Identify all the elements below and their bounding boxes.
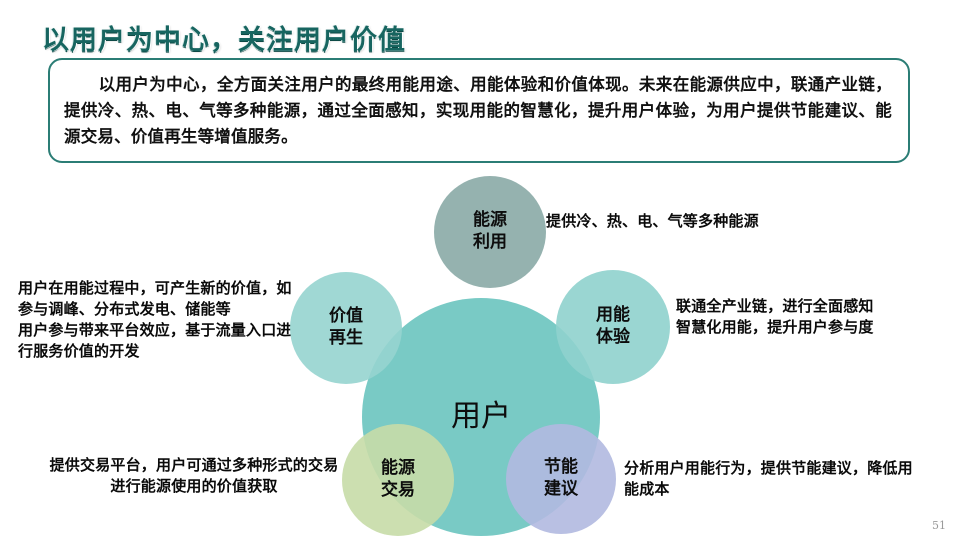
bubble-energy-experience-line2: 体验 (596, 327, 630, 349)
annotation-energy-use: 提供冷、热、电、气等多种能源 (546, 211, 846, 232)
bubble-energy-use-line1: 能源 (473, 210, 507, 232)
bubble-saving-advice-line1: 节能 (544, 457, 578, 479)
annotation-energy-experience: 联通全产业链，进行全面感知 智慧化用能，提升用户参与度 (676, 296, 952, 338)
bubble-value-regeneration[interactable]: 价值 再生 (290, 272, 402, 384)
summary-paragraph: 以用户为中心，全方面关注用户的最终用能用途、用能体验和价值体现。未来在能源供应中… (64, 72, 892, 150)
bubble-energy-experience[interactable]: 用能 体验 (556, 270, 670, 384)
bubble-saving-advice-line2: 建议 (544, 479, 578, 501)
bubble-energy-experience-line1: 用能 (596, 305, 630, 327)
bubble-diagram: 能源 利用 用户 价值 再生 用能 体验 能源 交易 节能 建议 提供冷、热、电… (0, 168, 960, 540)
bubble-energy-trading[interactable]: 能源 交易 (342, 424, 454, 536)
bubble-energy-use-line2: 利用 (473, 232, 507, 254)
summary-box: 以用户为中心，全方面关注用户的最终用能用途、用能体验和价值体现。未来在能源供应中… (48, 58, 910, 163)
page-title: 以用户为中心，关注用户价值 (42, 18, 406, 57)
slide-root: 以用户为中心，关注用户价值 以用户为中心，全方面关注用户的最终用能用途、用能体验… (0, 0, 960, 540)
bubble-saving-advice[interactable]: 节能 建议 (506, 424, 616, 534)
bubble-user-label: 用户 (451, 398, 511, 436)
bubble-value-regeneration-line1: 价值 (329, 306, 363, 328)
bubble-energy-trading-line2: 交易 (381, 480, 415, 502)
page-number: 51 (932, 519, 946, 532)
annotation-saving-advice: 分析用户用能行为，提供节能建议，降低用能成本 (624, 458, 924, 500)
bubble-energy-trading-line1: 能源 (381, 458, 415, 480)
bubble-energy-use[interactable]: 能源 利用 (434, 176, 546, 288)
bubble-value-regeneration-line2: 再生 (329, 328, 363, 350)
annotation-value-regeneration: 用户在用能过程中，可产生新的价值，如参与调峰、分布式发电、储能等 用户参与带来平… (18, 278, 296, 362)
annotation-energy-trading: 提供交易平台，用户可通过多种形式的交易进行能源使用的价值获取 (44, 455, 344, 497)
